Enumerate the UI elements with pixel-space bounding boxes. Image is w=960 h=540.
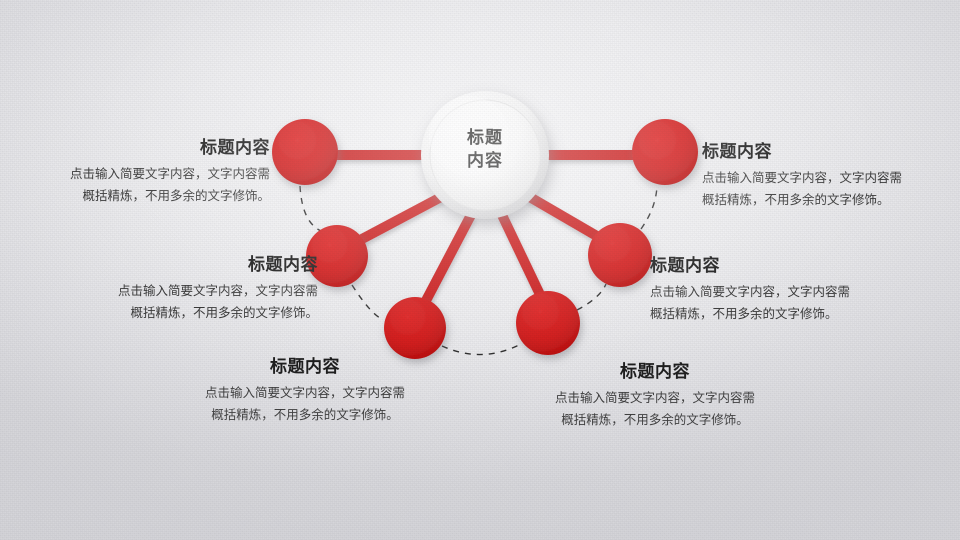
node-circle-top-right[interactable] — [632, 119, 698, 185]
label-title-bottom-left: 标题内容 — [160, 357, 450, 377]
label-title-top-left: 标题内容 — [12, 138, 270, 158]
label-body-bottom-right-line2: 概括精炼，不用多余的文字修饰。 — [510, 409, 800, 431]
spoke-to-node-bottom-left — [420, 215, 471, 312]
dash-bottomright-to-midright — [577, 284, 606, 310]
label-body-mid-right-line1: 点击输入简要文字内容，文字内容需 — [650, 281, 912, 303]
dash-midleft-to-bottomleft — [352, 285, 384, 320]
label-block-mid-right[interactable]: 标题内容 点击输入简要文字内容，文字内容需 概括精炼，不用多余的文字修饰。 — [650, 256, 912, 325]
dash-midright-to-topright — [641, 186, 657, 229]
dash-bottomleft-to-bottomright — [442, 344, 521, 355]
label-body-top-right-line2: 概括精炼，不用多余的文字修饰。 — [702, 189, 960, 211]
node-circle-bottom-right[interactable] — [516, 291, 580, 355]
label-body-mid-left-line1: 点击输入简要文字内容，文字内容需 — [60, 280, 318, 302]
hub-label: 标题 内容 — [422, 127, 548, 174]
label-title-mid-right: 标题内容 — [650, 256, 912, 276]
label-body-top-right-line1: 点击输入简要文字内容，文字内容需 — [702, 167, 960, 189]
label-body-mid-right-line2: 概括精炼，不用多余的文字修饰。 — [650, 303, 912, 325]
label-block-bottom-right[interactable]: 标题内容 点击输入简要文字内容，文字内容需 概括精炼，不用多余的文字修饰。 — [510, 362, 800, 431]
label-title-mid-left: 标题内容 — [60, 255, 318, 275]
spoke-to-node-bottom-right — [502, 215, 545, 305]
label-block-mid-left[interactable]: 标题内容 点击输入简要文字内容，文字内容需 概括精炼，不用多余的文字修饰。 — [60, 255, 318, 324]
node-circle-mid-right[interactable] — [588, 223, 652, 287]
label-block-bottom-left[interactable]: 标题内容 点击输入简要文字内容，文字内容需 概括精炼，不用多余的文字修饰。 — [160, 357, 450, 426]
label-title-bottom-right: 标题内容 — [510, 362, 800, 382]
slide-canvas: 标题 内容 标题内容 点击输入简要文字内容，文字内容需 概括精炼，不用多余的文字… — [0, 0, 960, 540]
node-circle-bottom-left[interactable] — [384, 297, 446, 359]
label-body-bottom-right-line1: 点击输入简要文字内容，文字内容需 — [510, 387, 800, 409]
label-body-bottom-left-line2: 概括精炼，不用多余的文字修饰。 — [160, 404, 450, 426]
label-block-top-left[interactable]: 标题内容 点击输入简要文字内容，文字内容需 概括精炼，不用多余的文字修饰。 — [12, 138, 270, 207]
node-circle-top-left[interactable] — [272, 119, 338, 185]
label-body-top-left-line1: 点击输入简要文字内容，文字内容需 — [12, 163, 270, 185]
hub-label-line2: 内容 — [422, 150, 548, 173]
hub-label-line1: 标题 — [422, 127, 548, 150]
label-body-top-left-line2: 概括精炼，不用多余的文字修饰。 — [12, 185, 270, 207]
label-block-top-right[interactable]: 标题内容 点击输入简要文字内容，文字内容需 概括精炼，不用多余的文字修饰。 — [702, 142, 960, 211]
label-body-bottom-left-line1: 点击输入简要文字内容，文字内容需 — [160, 382, 450, 404]
dash-topleft-to-midleft — [300, 186, 321, 231]
label-body-mid-left-line2: 概括精炼，不用多余的文字修饰。 — [60, 302, 318, 324]
label-title-top-right: 标题内容 — [702, 142, 960, 162]
